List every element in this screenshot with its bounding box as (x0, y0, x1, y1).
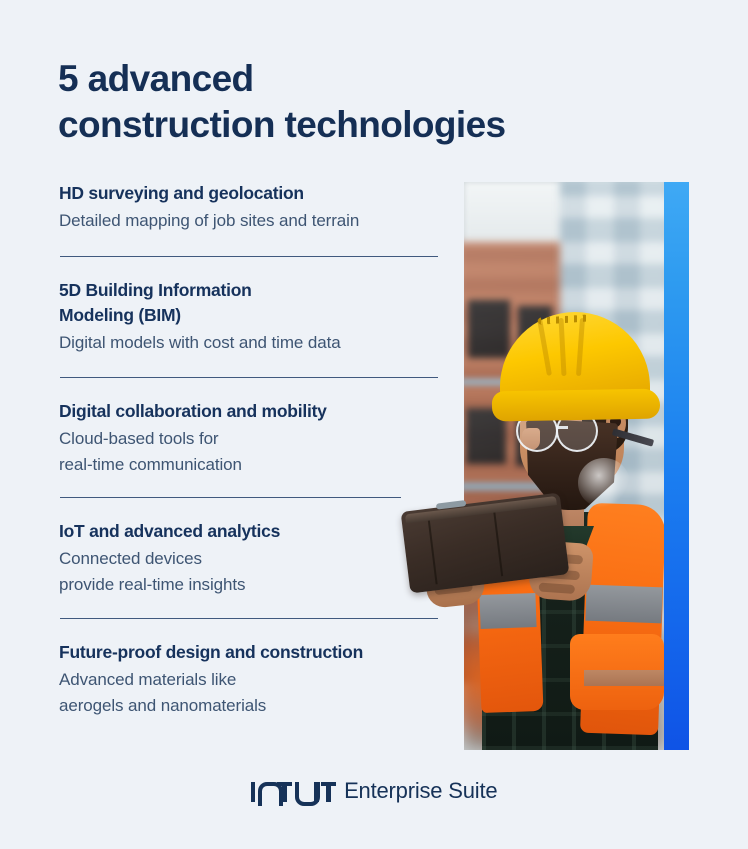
description-line: aerogels and nanomaterials (59, 693, 441, 719)
list-item: 5D Building Information Modeling (BIM) D… (59, 278, 441, 378)
list-item-description: Connected devices provide real-time insi… (59, 546, 441, 598)
list-item-heading: Future-proof design and construction (59, 640, 441, 665)
brand-logo: Enterprise Suite (0, 780, 748, 802)
list-divider (60, 618, 438, 619)
heading-line: IoT and advanced analytics (59, 519, 441, 544)
list-item-description: Cloud-based tools for real-time communic… (59, 426, 441, 478)
worker-vest-reflective-stripe (585, 585, 662, 624)
tablet-case-seam (493, 513, 503, 577)
finger (539, 583, 576, 594)
list-item-heading: Digital collaboration and mobility (59, 399, 441, 424)
list-item: Future-proof design and construction Adv… (59, 640, 441, 719)
intuit-letter-u (295, 782, 312, 802)
list-item-heading: HD surveying and geolocation (59, 181, 441, 206)
worker-vest-reflective-stripe (479, 593, 536, 629)
list-divider (60, 377, 438, 378)
heading-line: Digital collaboration and mobility (59, 399, 441, 424)
photo-background-window (468, 300, 510, 358)
intuit-letter-t (277, 782, 292, 802)
intuit-wordmark (251, 781, 337, 802)
blue-accent-bar (664, 182, 689, 750)
list-divider (60, 497, 401, 498)
description-line: Digital models with cost and time data (59, 330, 441, 356)
media-panel (464, 182, 689, 750)
list-divider (60, 256, 438, 257)
page-title: 5 advanced construction technologies (58, 56, 618, 148)
title-line-2: construction technologies (58, 102, 618, 148)
list-item-heading: 5D Building Information Modeling (BIM) (59, 278, 441, 328)
title-line-1: 5 advanced (58, 56, 618, 102)
infographic-card: 5 advanced construction technologies HD … (0, 0, 748, 849)
list-item: Digital collaboration and mobility Cloud… (59, 399, 441, 498)
intuit-letter-t (321, 782, 336, 802)
list-item: HD surveying and geolocation Detailed ma… (59, 181, 441, 257)
intuit-letter-n (258, 782, 275, 802)
heading-line: 5D Building Information (59, 278, 441, 303)
worker-glasses-bridge (556, 426, 568, 429)
worker-photo (464, 182, 664, 750)
description-line: provide real-time insights (59, 572, 441, 598)
technology-list: HD surveying and geolocation Detailed ma… (59, 181, 441, 719)
heading-line: Modeling (BIM) (59, 303, 441, 328)
description-line: Detailed mapping of job sites and terrai… (59, 208, 441, 234)
hard-hat-highlight (578, 458, 630, 508)
list-item-description: Detailed mapping of job sites and terrai… (59, 208, 441, 234)
tablet-case-seam (428, 521, 438, 585)
list-item-description: Advanced materials like aerogels and nan… (59, 667, 441, 719)
list-item-heading: IoT and advanced analytics (59, 519, 441, 544)
list-item-description: Digital models with cost and time data (59, 330, 441, 356)
description-line: Advanced materials like (59, 667, 441, 693)
description-line: Connected devices (59, 546, 441, 572)
list-item: IoT and advanced analytics Connected dev… (59, 519, 441, 619)
worker-vest-reflective-stripe (584, 670, 664, 686)
description-line: real-time communication (59, 452, 441, 478)
heading-line: HD surveying and geolocation (59, 181, 441, 206)
intuit-letter-i (251, 782, 256, 802)
hard-hat-brim (492, 389, 660, 422)
description-line: Cloud-based tools for (59, 426, 441, 452)
heading-line: Future-proof design and construction (59, 640, 441, 665)
product-name: Enterprise Suite (344, 780, 497, 802)
